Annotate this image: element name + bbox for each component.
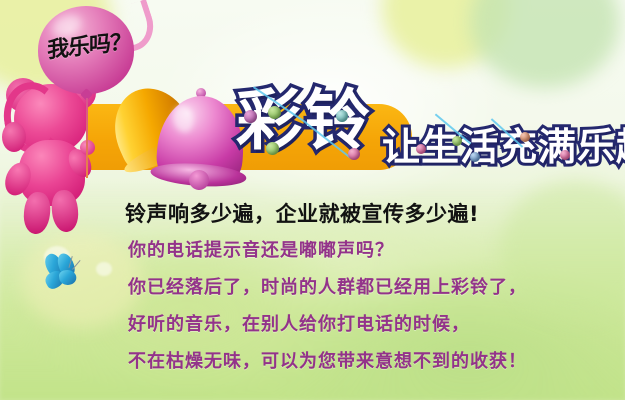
headline-text: 铃声响多少遍，企业就被宣传多少遍! — [125, 198, 479, 228]
title-sphere — [452, 136, 462, 146]
title-sphere — [268, 106, 281, 119]
title-sphere — [244, 110, 257, 123]
body-line: 你的电话提示音还是嘟嘟声吗？ — [128, 236, 527, 262]
body-line: 好听的音乐，在别人给你打电话的时候， — [128, 310, 527, 336]
title-sphere — [348, 148, 360, 160]
title-sphere — [520, 132, 530, 142]
crbt-promo-banner: 我乐吗？ 彩铃 让生活充满乐趣 铃声响多少遍，企业就被宣传多少遍! 你的电话提示… — [0, 0, 625, 400]
title-sphere — [336, 110, 348, 122]
title-sphere — [266, 142, 279, 155]
title-sphere — [560, 150, 570, 160]
body-line: 你已经落后了，时尚的人群都已经用上彩铃了， — [128, 273, 527, 299]
title-sphere — [470, 152, 480, 162]
background-speck — [96, 262, 112, 276]
balloon-string — [86, 98, 88, 178]
title-sphere — [416, 144, 426, 154]
pink-bell — [155, 93, 247, 183]
headphone-earcup-icon — [2, 122, 26, 152]
body-text-block: 你的电话提示音还是嘟嘟声吗？ 你已经落后了，时尚的人群都已经用上彩铃了， 好听的… — [128, 236, 527, 384]
body-line: 不在枯燥无味，可以为您带来意想不到的收获！ — [128, 347, 527, 373]
